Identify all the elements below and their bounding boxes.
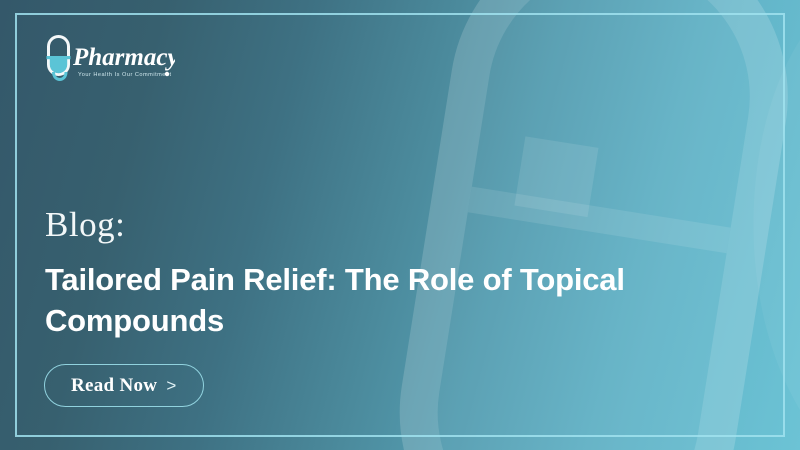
copy-block: Blog: Tailored Pain Relief: The Role of … [45,205,735,341]
logo-dot-icon [165,72,169,76]
brand-logo[interactable]: Pharmacy Your Health Is Our Commitment [40,32,175,87]
page-title: Tailored Pain Relief: The Role of Topica… [45,259,725,341]
pharmacy-logo-icon: Pharmacy Your Health Is Our Commitment [40,32,175,87]
eyebrow-label: Blog: [45,205,735,245]
brand-tagline: Your Health Is Our Commitment [78,72,172,78]
brand-wordmark: Pharmacy [72,44,175,71]
read-now-button[interactable]: Read Now > [44,364,204,407]
pill-capsule-icon [47,37,71,80]
read-now-label: Read Now [71,375,157,397]
blog-promo-banner: Pharmacy Your Health Is Our Commitment B… [0,0,800,450]
chevron-right-icon: > [166,377,176,394]
